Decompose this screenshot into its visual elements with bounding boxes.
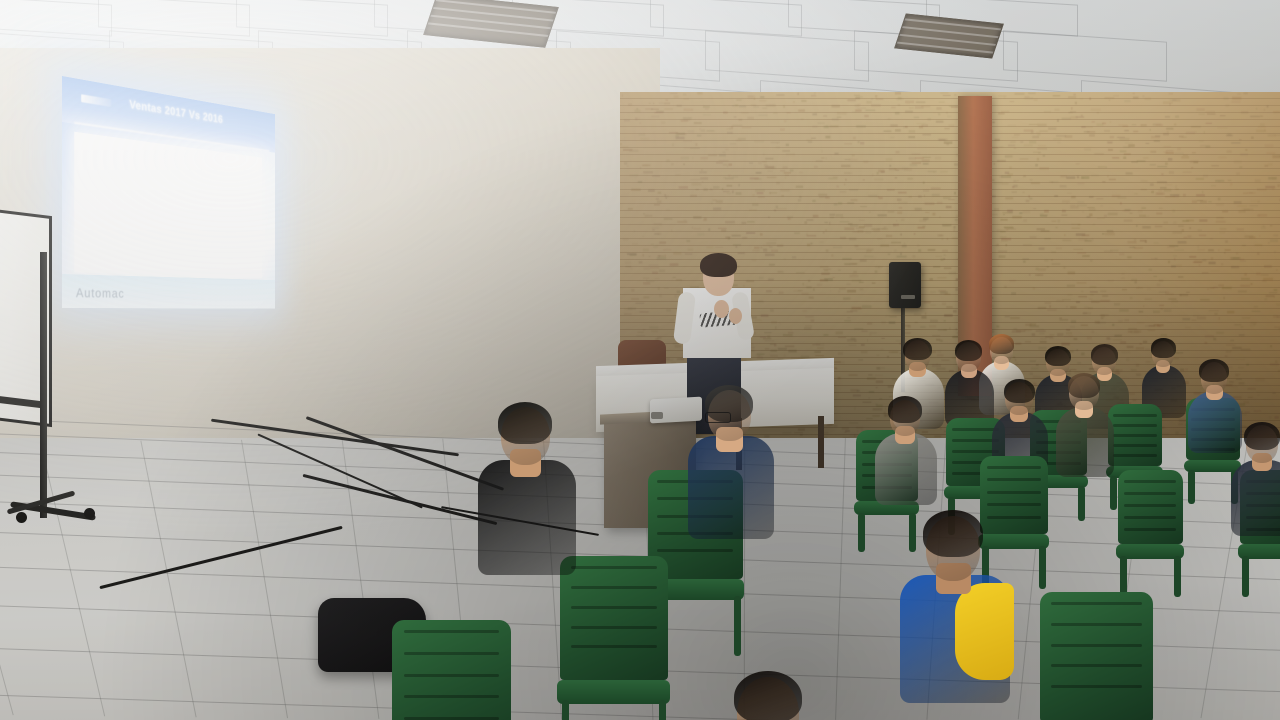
- chair-seat: [557, 680, 670, 704]
- attendee-hair: [1151, 338, 1176, 357]
- chair-backrest: [1040, 592, 1153, 720]
- chair-leg: [858, 513, 865, 552]
- chair-seat: [978, 534, 1049, 549]
- photo-scene: Ventas 2017 Vs 2016 Automac: [0, 0, 1280, 720]
- floor-cable: [211, 419, 459, 456]
- attendee-torso: [1231, 460, 1280, 536]
- chair-leg: [1110, 476, 1117, 510]
- chair-backrest: [1118, 470, 1183, 544]
- attendee-hair: [734, 671, 802, 720]
- chair-backrest: [1108, 404, 1162, 466]
- chair-leg: [1039, 546, 1046, 589]
- attendee-hair: [1091, 344, 1118, 365]
- chair-backrest: [980, 456, 1048, 534]
- chair-backrest: [560, 556, 668, 680]
- attendee-hair: [989, 334, 1014, 354]
- attendee-hair: [1045, 346, 1071, 366]
- floor-cable: [306, 416, 504, 490]
- attendee-hair: [498, 402, 552, 444]
- chair-leg: [1188, 470, 1195, 504]
- attendee-torso: [1188, 391, 1241, 454]
- eyeglasses-icon: [705, 412, 732, 423]
- attendee-hair: [1004, 379, 1035, 403]
- attendee-hair: [955, 340, 982, 361]
- chair-leg: [1242, 556, 1249, 597]
- jersey-yellow-panel: [955, 583, 1014, 681]
- chair-backrest: [392, 620, 511, 720]
- attendee-hair: [888, 396, 922, 422]
- floor-cable: [303, 474, 498, 525]
- attendee-hair: [903, 338, 932, 360]
- floor-cable: [99, 526, 342, 589]
- chair-leg: [909, 513, 916, 552]
- chair-leg: [1078, 486, 1085, 522]
- chair-leg: [1174, 556, 1181, 597]
- attendee-hair: [1244, 422, 1280, 450]
- attendee-hair: [1199, 359, 1228, 382]
- attendee-hair: [923, 510, 983, 557]
- chair-leg: [659, 700, 666, 720]
- chair-leg: [734, 596, 741, 656]
- chair-leg: [562, 700, 569, 720]
- attendee-hair: [1068, 373, 1101, 398]
